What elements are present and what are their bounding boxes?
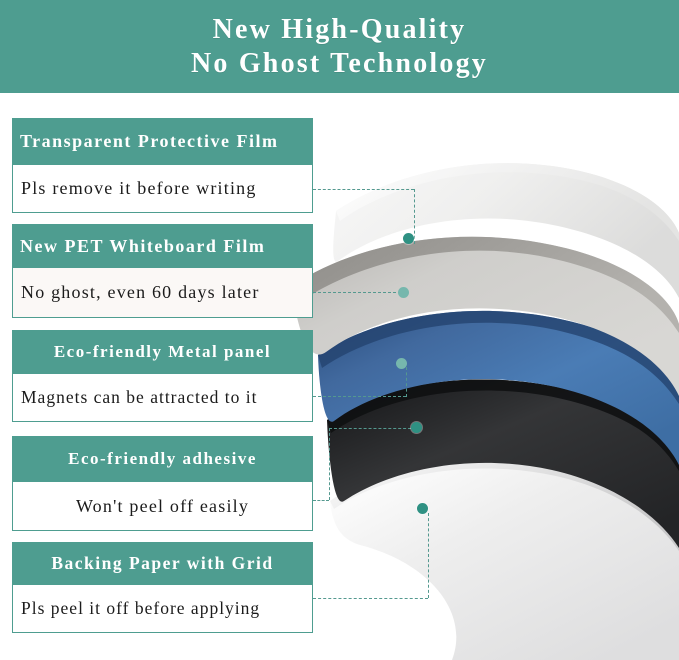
feature-card-3-title: Eco-friendly Metal panel [12, 330, 313, 374]
feature-card-4-title: Eco-friendly adhesive [12, 436, 313, 482]
feature-card-4[interactable]: Eco-friendly adhesive Won't peel off eas… [12, 436, 313, 531]
banner-header: New High-Quality No Ghost Technology [0, 0, 679, 93]
callout-dot-5 [417, 503, 428, 514]
feature-card-2-desc: No ghost, even 60 days later [12, 268, 313, 318]
banner-title-line-2: No Ghost Technology [191, 47, 488, 81]
feature-card-5-desc: Pls peel it off before applying [12, 585, 313, 633]
feature-card-1[interactable]: Transparent Protective Film Pls remove i… [12, 118, 313, 213]
feature-card-4-desc: Won't peel off easily [12, 482, 313, 531]
banner-title-line-1: New High-Quality [213, 13, 467, 47]
callout-dot-2 [398, 287, 409, 298]
feature-card-2[interactable]: New PET Whiteboard Film No ghost, even 6… [12, 224, 313, 318]
feature-card-1-desc: Pls remove it before writing [12, 165, 313, 213]
feature-card-3-desc: Magnets can be attracted to it [12, 374, 313, 422]
product-infographic: New High-Quality No Ghost Technology [0, 0, 679, 660]
callout-dot-3 [396, 358, 407, 369]
feature-card-2-title: New PET Whiteboard Film [12, 224, 313, 268]
feature-card-1-title: Transparent Protective Film [12, 118, 313, 165]
callout-dot-1 [403, 233, 414, 244]
callout-dot-4 [411, 422, 422, 433]
feature-card-5-title: Backing Paper with Grid [12, 542, 313, 585]
feature-card-5[interactable]: Backing Paper with Grid Pls peel it off … [12, 542, 313, 633]
feature-card-3[interactable]: Eco-friendly Metal panel Magnets can be … [12, 330, 313, 422]
